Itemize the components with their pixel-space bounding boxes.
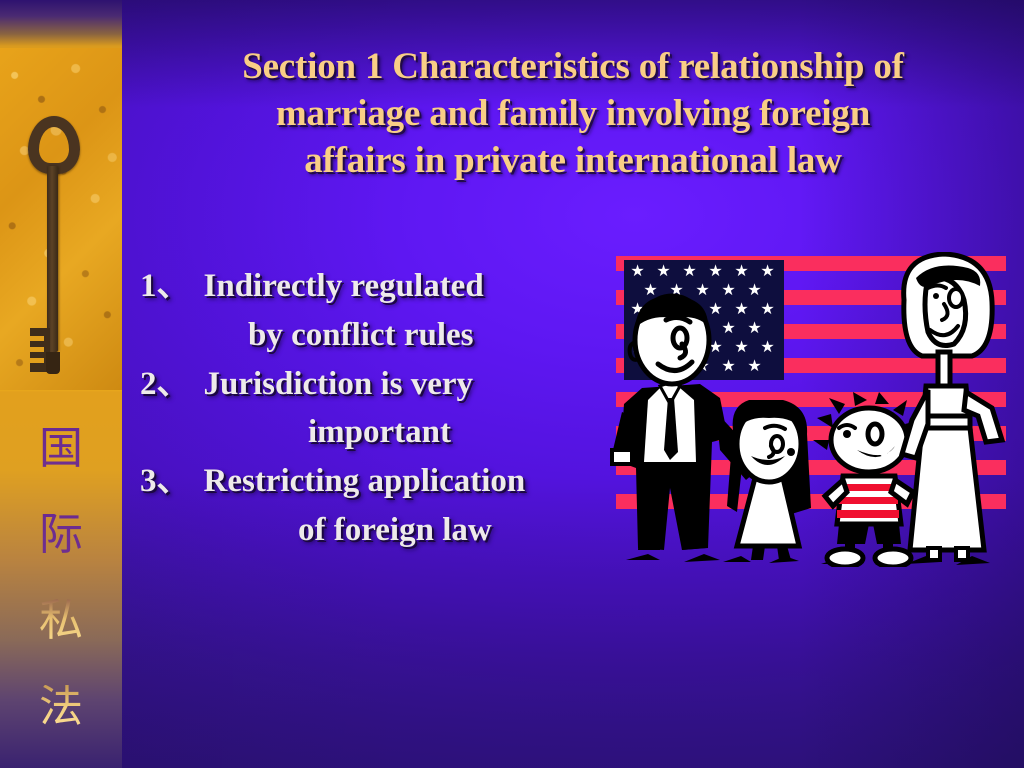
title-line: Section 1 Characteristics of relationshi… [138, 44, 1008, 91]
body-line-text: important [308, 414, 451, 450]
cjk-char-fa: 法 [39, 685, 83, 729]
body-line-text: by conflict rules [248, 317, 473, 353]
slide-title: Section 1 Characteristics of relationshi… [138, 44, 1008, 185]
key-tooth-icon [30, 336, 44, 341]
key-shaft-icon [47, 166, 58, 352]
key-tip-icon [46, 352, 60, 374]
title-line: affairs in private international law [138, 138, 1008, 185]
cjk-char-si: 私 [39, 599, 83, 643]
mother-figure [886, 252, 1011, 567]
key-tooth-icon [30, 358, 44, 363]
key-tooth-icon [30, 347, 44, 352]
presentation-slide: 国 际 私 法 Section 1 Characteristics of rel… [0, 0, 1024, 768]
title-line: marriage and family involving foreign [138, 91, 1008, 138]
left-decorative-sidebar: 国 际 私 法 [0, 0, 122, 768]
cjk-char-ji: 际 [39, 513, 83, 557]
body-line-text: Jurisdiction is very [204, 366, 474, 402]
body-line-number: 1、 [140, 262, 190, 311]
vertical-cjk-title: 国 际 私 法 [0, 400, 122, 768]
cjk-char-guo: 国 [39, 427, 83, 471]
body-line-text: of foreign law [298, 512, 492, 548]
body-line-text: Restricting application [204, 463, 526, 499]
family-flag-clipart: ★ ★ ★ ★ ★ ★ ★ ★ ★ ★ ★ ★ ★ ★ ★ ★ ★ ★ ★ ★ [608, 252, 1012, 572]
body-line-text: Indirectly regulated [204, 268, 484, 304]
body-line-number: 3、 [140, 457, 190, 506]
body-line-number: 2、 [140, 360, 190, 409]
antique-key-photo [0, 48, 122, 390]
